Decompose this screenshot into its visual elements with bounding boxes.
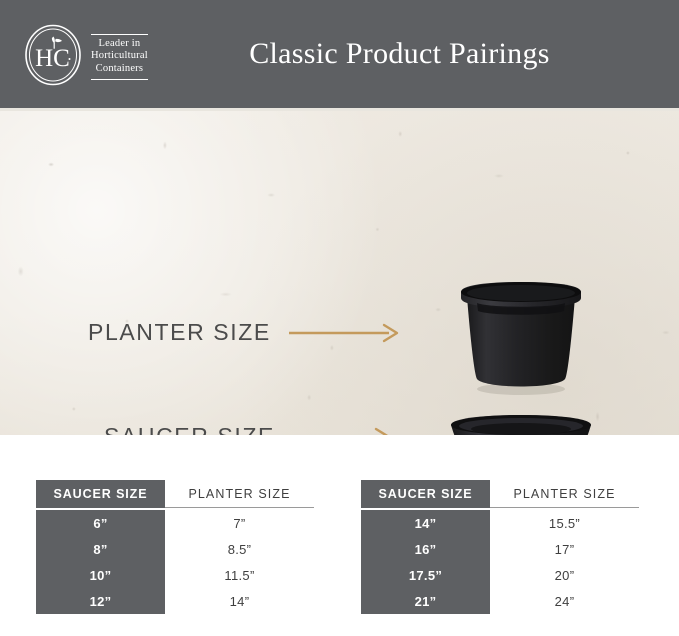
cell-saucer-size: 12” — [36, 594, 165, 609]
table-row: 14” 15.5” — [361, 510, 639, 536]
table-row: 10” 11.5” — [36, 562, 314, 588]
right-arrow-icon — [289, 323, 401, 343]
table-body: 6” 7” 8” 8.5” 10” 11.5” 12” 14” — [36, 510, 314, 614]
right-arrow-icon — [293, 427, 393, 436]
column-header-saucer-size: SAUCER SIZE — [36, 480, 165, 508]
logo-tagline: Leader in Horticultural Containers — [91, 30, 148, 79]
tagline-line-3: Containers — [91, 63, 148, 76]
tagline-line-1: Leader in — [91, 38, 148, 51]
callout-saucer-label: SAUCER SIZE — [104, 423, 275, 435]
cell-saucer-size: 16” — [361, 542, 490, 557]
cell-planter-size: 20” — [490, 568, 639, 583]
tagline-rule-bottom — [91, 79, 148, 80]
table-row: 16” 17” — [361, 536, 639, 562]
product-pairings-infographic: HC Leader in Horticultural Containers Cl… — [0, 0, 679, 636]
table-row: 12” 14” — [36, 588, 314, 614]
column-header-saucer-size: SAUCER SIZE — [361, 480, 490, 508]
table-row: 17.5” 20” — [361, 562, 639, 588]
column-header-planter-size: PLANTER SIZE — [490, 480, 639, 508]
tagline-rule-top — [91, 34, 148, 35]
cell-planter-size: 17” — [490, 542, 639, 557]
cell-saucer-size: 8” — [36, 542, 165, 557]
saucer-image — [447, 413, 595, 435]
size-chart-small: SAUCER SIZE PLANTER SIZE 6” 7” 8” 8.5” 1… — [36, 480, 314, 614]
cell-planter-size: 8.5” — [165, 542, 314, 557]
table-row: 21” 24” — [361, 588, 639, 614]
cell-planter-size: 15.5” — [490, 516, 639, 531]
cell-saucer-size: 10” — [36, 568, 165, 583]
hero-photo-area: PLANTER SIZE SAUCER SIZE — [0, 111, 679, 435]
cell-saucer-size: 6” — [36, 516, 165, 531]
cell-saucer-size: 14” — [361, 516, 490, 531]
column-header-planter-size: PLANTER SIZE — [165, 480, 314, 508]
header-bar: HC Leader in Horticultural Containers Cl… — [0, 0, 679, 108]
hc-monogram-logo-icon: HC — [24, 24, 82, 86]
cell-planter-size: 11.5” — [165, 568, 314, 583]
table-header-row: SAUCER SIZE PLANTER SIZE — [36, 480, 314, 508]
table-row: 6” 7” — [36, 510, 314, 536]
table-body: 14” 15.5” 16” 17” 17.5” 20” 21” 24” — [361, 510, 639, 614]
table-row: 8” 8.5” — [36, 536, 314, 562]
callout-saucer-size: SAUCER SIZE — [104, 423, 393, 435]
svg-text:HC: HC — [35, 45, 70, 72]
table-header-row: SAUCER SIZE PLANTER SIZE — [361, 480, 639, 508]
callout-planter-label: PLANTER SIZE — [88, 319, 271, 346]
cell-planter-size: 14” — [165, 594, 314, 609]
callout-planter-size: PLANTER SIZE — [88, 319, 401, 346]
tagline-line-2: Horticultural — [91, 50, 148, 63]
brand-logo: HC Leader in Horticultural Containers — [24, 24, 148, 86]
cell-planter-size: 7” — [165, 516, 314, 531]
cell-saucer-size: 17.5” — [361, 568, 490, 583]
cell-planter-size: 24” — [490, 594, 639, 609]
planter-pot-image — [455, 281, 587, 396]
size-chart-large: SAUCER SIZE PLANTER SIZE 14” 15.5” 16” 1… — [361, 480, 639, 614]
cell-saucer-size: 21” — [361, 594, 490, 609]
